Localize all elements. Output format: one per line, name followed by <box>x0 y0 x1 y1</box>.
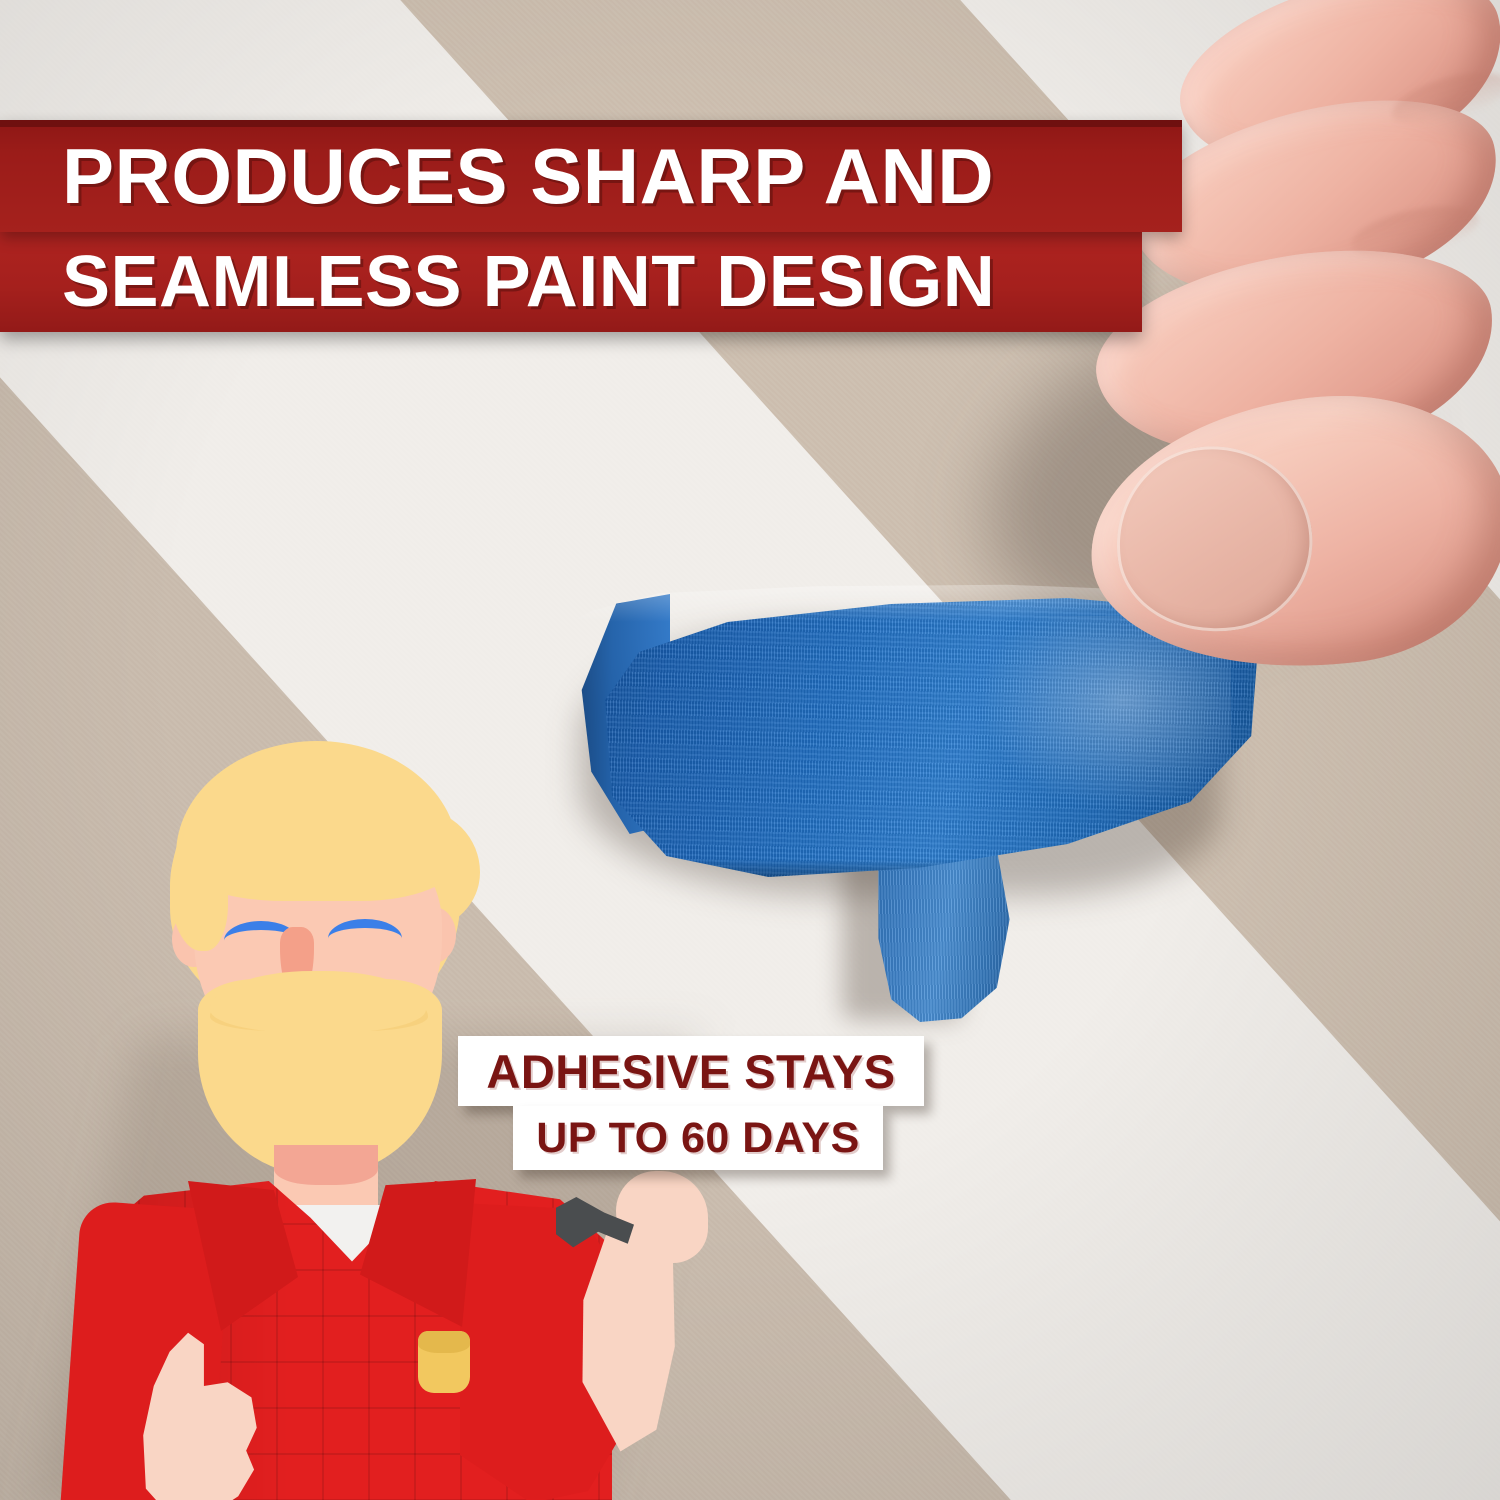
human-hand-holding-tape <box>1060 0 1500 700</box>
headline-banner-line-2: SEAMLESS PAINT DESIGN <box>0 232 1142 332</box>
mascot-hair-sideburn <box>170 831 228 951</box>
headline-text-line-1: PRODUCES SHARP AND <box>62 131 994 222</box>
callout-plaque-line-2: UP TO 60 DAYS <box>513 1106 883 1170</box>
callout-plaque-line-1: ADHESIVE STAYS <box>458 1036 924 1106</box>
marketing-image-canvas: PRODUCES SHARP AND SEAMLESS PAINT DESIGN… <box>0 0 1500 1500</box>
mascot-eye-right-closed-smiling <box>328 919 402 958</box>
mascot-neck-shadow <box>274 1145 378 1185</box>
callout-text-line-1: ADHESIVE STAYS <box>486 1044 895 1099</box>
mascot-shirt-pocket-flap <box>418 1331 470 1353</box>
tape-lifted-edge-highlight <box>570 584 1130 622</box>
headline-banner-line-1: PRODUCES SHARP AND <box>0 120 1182 232</box>
callout-text-line-2: UP TO 60 DAYS <box>536 1114 860 1163</box>
headline-text-line-2: SEAMLESS PAINT DESIGN <box>62 241 995 323</box>
